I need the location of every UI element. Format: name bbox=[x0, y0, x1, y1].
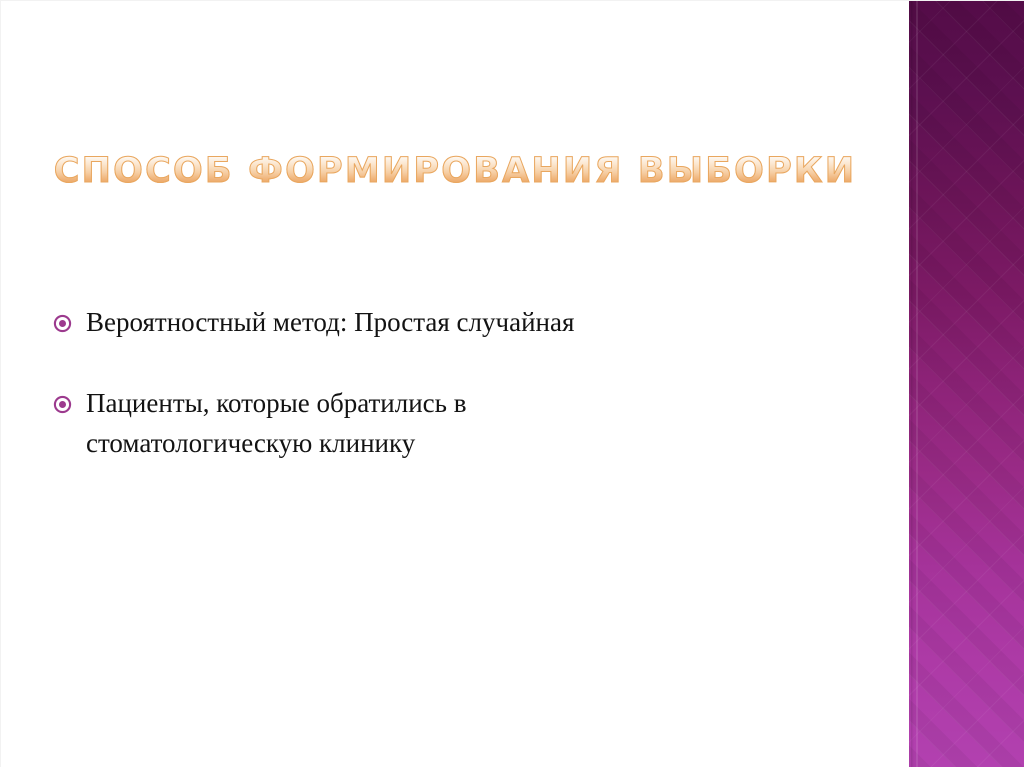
presentation-slide: Способ формирования выборки Вероятностны… bbox=[0, 0, 1024, 767]
circled-dot-bullet-icon bbox=[53, 303, 86, 333]
slide-title-container: Способ формирования выборки bbox=[1, 153, 909, 190]
list-item: Пациенты, которые обратились в стоматоло… bbox=[53, 384, 843, 463]
side-band-left-highlight bbox=[916, 1, 918, 767]
list-item-label: Вероятностный метод: Простая случайная bbox=[86, 303, 646, 342]
circled-dot-bullet-icon bbox=[53, 384, 86, 414]
side-band-left-shadow bbox=[911, 1, 914, 767]
list-item: Вероятностный метод: Простая случайная bbox=[53, 303, 843, 342]
decorative-side-band bbox=[909, 1, 1024, 767]
list-item-label: Пациенты, которые обратились в стоматоло… bbox=[86, 384, 646, 463]
side-band-diamond-texture bbox=[909, 1, 1024, 767]
slide-body-bullet-list: Вероятностный метод: Простая случайная П… bbox=[53, 303, 843, 463]
slide-title: Способ формирования выборки bbox=[54, 153, 856, 190]
